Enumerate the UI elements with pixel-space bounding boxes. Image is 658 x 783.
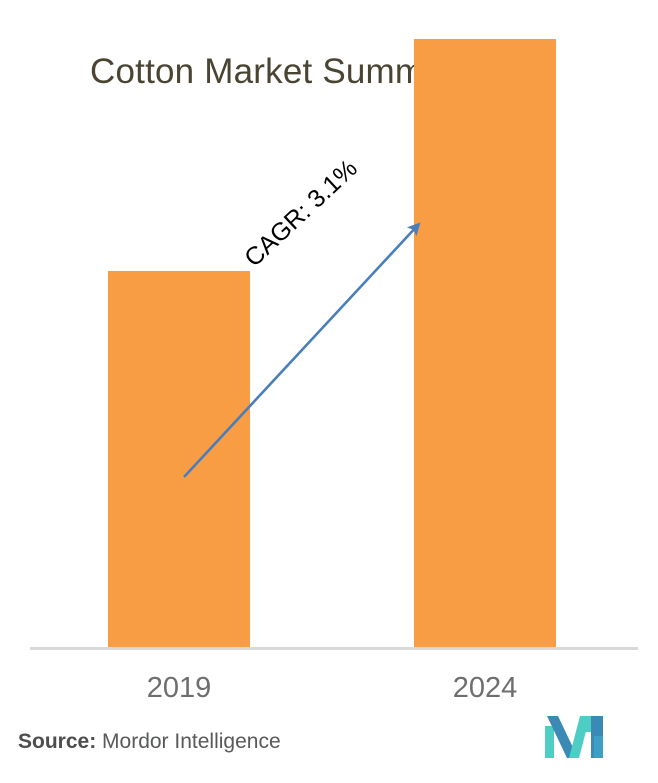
mordor-intelligence-logo-icon — [545, 712, 611, 758]
cagr-annotation-label: CAGR: 3.1% — [239, 154, 363, 273]
x-axis-line — [30, 647, 638, 650]
cotton-market-summary-chart: Cotton Market Summary CAGR: 3.1% 2019 20… — [0, 0, 658, 783]
source-value: Mordor Intelligence — [102, 730, 281, 753]
source-label: Source: — [18, 730, 96, 753]
source-line: Source: Mordor Intelligence — [18, 730, 281, 754]
bar-2019[interactable] — [108, 271, 250, 648]
growth-arrow-icon — [0, 0, 658, 660]
plot-area: CAGR: 3.1% 2019 2024 — [0, 0, 658, 660]
bar-2024[interactable] — [414, 39, 556, 648]
